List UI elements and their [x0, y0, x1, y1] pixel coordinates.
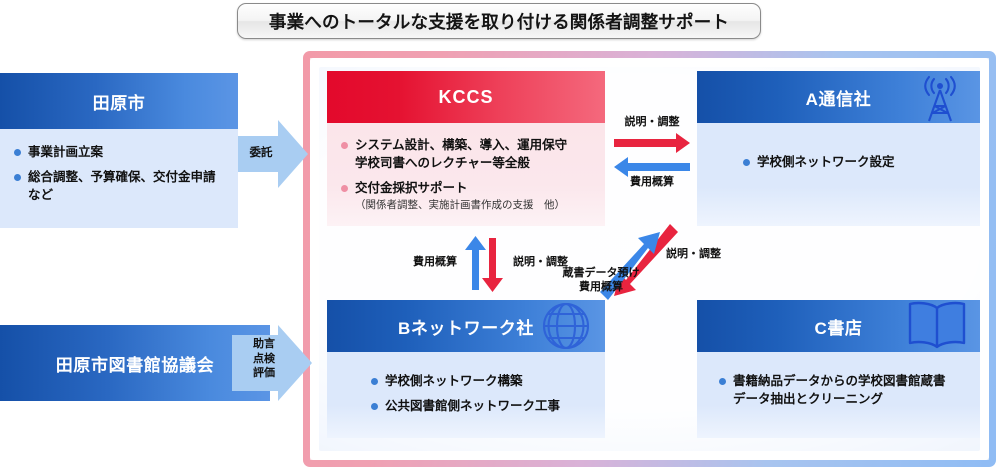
card-c-bookstore-header: C書店 — [697, 300, 980, 352]
diagram-canvas: 事業へのトータルな支援を取り付ける関係者調整サポート 田原市 事業計画立案 総合… — [0, 0, 1000, 471]
card-c-bookstore: C書店 書籍納品データからの学校図書館蔵書 データ抽出とクリーニング — [697, 300, 980, 438]
list-item-text: 公共図書館側ネットワーク工事 — [385, 397, 560, 415]
bullet-dot-icon — [341, 185, 348, 192]
card-a-telecom: A通信社 — [697, 71, 980, 226]
connector-kccs-c-label-left-line2: 費用概算 — [546, 280, 656, 294]
antenna-tower-icon — [912, 73, 968, 123]
list-item-text: システム設計、構築、導入、運用保守 学校司書へのレクチャー等全般 — [355, 136, 567, 172]
card-kccs: KCCS システム設計、構築、導入、運用保守 学校司書へのレクチャー等全般 交付… — [327, 71, 605, 226]
list-item-text: 交付金採択サポート （関係者調整、実施計画書作成の支援 他） — [355, 179, 565, 213]
list-item-subtext: （関係者調整、実施計画書作成の支援 他） — [355, 198, 565, 213]
connector-advice-line2: 点検 — [244, 352, 284, 367]
diagram-title-text: 事業へのトータルな支援を取り付ける関係者調整サポート — [269, 9, 729, 34]
connector-kccs-c-bookstore: 説明・調整 蔵書データ預け 費用概算 — [556, 222, 746, 306]
card-b-network-title: Bネットワーク社 — [398, 314, 534, 339]
card-a-telecom-title: A通信社 — [806, 85, 872, 110]
list-item-text: 学校側ネットワーク構築 — [385, 372, 523, 390]
list-item: 学校側ネットワーク設定 — [743, 153, 968, 171]
bullet-dot-icon — [719, 378, 726, 385]
connector-kccs-b-label-left: 費用概算 — [385, 256, 457, 270]
connector-advice: 助言 点検 評価 — [232, 325, 314, 401]
card-c-bookstore-body: 書籍納品データからの学校図書館蔵書 データ抽出とクリーニング — [697, 352, 980, 438]
list-item-line2: 学校司書へのレクチャー等全般 — [355, 156, 530, 170]
bullet-dot-icon — [371, 403, 378, 410]
card-tahara-city-title: 田原市 — [93, 89, 146, 114]
connector-commission-label: 委託 — [240, 144, 282, 160]
bullet-dot-icon — [14, 174, 21, 181]
card-tahara-city-header: 田原市 — [0, 73, 238, 129]
connector-advice-line1: 助言 — [244, 337, 284, 352]
list-item-text: 総合調整、予算確保、交付金申請 など — [28, 168, 228, 204]
connector-kccs-c-label-left: 蔵書データ預け 費用概算 — [546, 266, 656, 295]
card-b-network-body: 学校側ネットワーク構築 公共図書館側ネットワーク工事 — [327, 352, 605, 438]
bullet-dot-icon — [371, 378, 378, 385]
diagram-title: 事業へのトータルな支援を取り付ける関係者調整サポート — [237, 3, 761, 39]
connector-kccs-a-label-top: 説明・調整 — [608, 116, 696, 130]
list-item: 書籍納品データからの学校図書館蔵書 データ抽出とクリーニング — [719, 372, 968, 408]
bullet-dot-icon — [341, 142, 348, 149]
connector-kccs-c-label-left-line1: 蔵書データ預け — [546, 266, 656, 280]
card-library-council: 田原市図書館協議会 — [0, 325, 270, 401]
list-item-line1: 書籍納品データからの学校図書館蔵書 — [733, 374, 946, 388]
list-item: 学校側ネットワーク構築 — [371, 372, 593, 390]
card-tahara-city-body: 事業計画立案 総合調整、予算確保、交付金申請 など — [0, 129, 238, 228]
connector-kccs-b-network: 費用概算 説明・調整 — [385, 234, 563, 296]
list-item: 公共図書館側ネットワーク工事 — [371, 397, 593, 415]
connector-kccs-c-label-right: 説明・調整 — [666, 248, 746, 262]
card-kccs-body: システム設計、構築、導入、運用保守 学校司書へのレクチャー等全般 交付金採択サポ… — [327, 123, 605, 226]
list-item-text: 事業計画立案 — [28, 143, 103, 161]
card-tahara-city: 田原市 事業計画立案 総合調整、予算確保、交付金申請 など — [0, 73, 238, 228]
card-a-telecom-header: A通信社 — [697, 71, 980, 123]
connector-kccs-b-arrows-icon — [461, 234, 509, 296]
connector-kccs-a-label-bottom: 費用概算 — [608, 176, 696, 190]
connector-kccs-a-telecom: 説明・調整 費用概算 — [608, 116, 696, 188]
list-item-text: 学校側ネットワーク設定 — [757, 153, 895, 171]
card-c-bookstore-title: C書店 — [814, 314, 862, 339]
connector-advice-label: 助言 点検 評価 — [244, 337, 284, 381]
bullet-dot-icon — [743, 159, 750, 166]
list-item: システム設計、構築、導入、運用保守 学校司書へのレクチャー等全般 — [341, 136, 595, 172]
list-item-line2: データ抽出とクリーニング — [733, 392, 883, 406]
card-b-network: Bネットワーク社 学校側ネットワーク構築 — [327, 300, 605, 438]
connector-commission: 委託 — [238, 118, 310, 190]
card-b-network-header: Bネットワーク社 — [327, 300, 605, 352]
card-kccs-title: KCCS — [438, 87, 493, 108]
card-library-council-header: 田原市図書館協議会 — [0, 325, 270, 401]
list-item: 交付金採択サポート （関係者調整、実施計画書作成の支援 他） — [341, 179, 595, 213]
list-item: 総合調整、予算確保、交付金申請 など — [14, 168, 228, 204]
card-library-council-title: 田原市図書館協議会 — [56, 351, 214, 376]
open-book-icon — [906, 300, 968, 353]
list-item: 事業計画立案 — [14, 143, 228, 161]
bullet-dot-icon — [14, 149, 21, 156]
list-item-text: 書籍納品データからの学校図書館蔵書 データ抽出とクリーニング — [733, 372, 946, 408]
connector-advice-line3: 評価 — [244, 366, 284, 381]
list-item-line1: システム設計、構築、導入、運用保守 — [355, 138, 567, 152]
card-a-telecom-body: 学校側ネットワーク設定 — [697, 123, 980, 226]
list-item-line1: 交付金採択サポート — [355, 181, 468, 195]
globe-icon — [537, 300, 595, 355]
connector-kccs-a-arrows-icon — [608, 132, 696, 178]
card-kccs-header: KCCS — [327, 71, 605, 123]
